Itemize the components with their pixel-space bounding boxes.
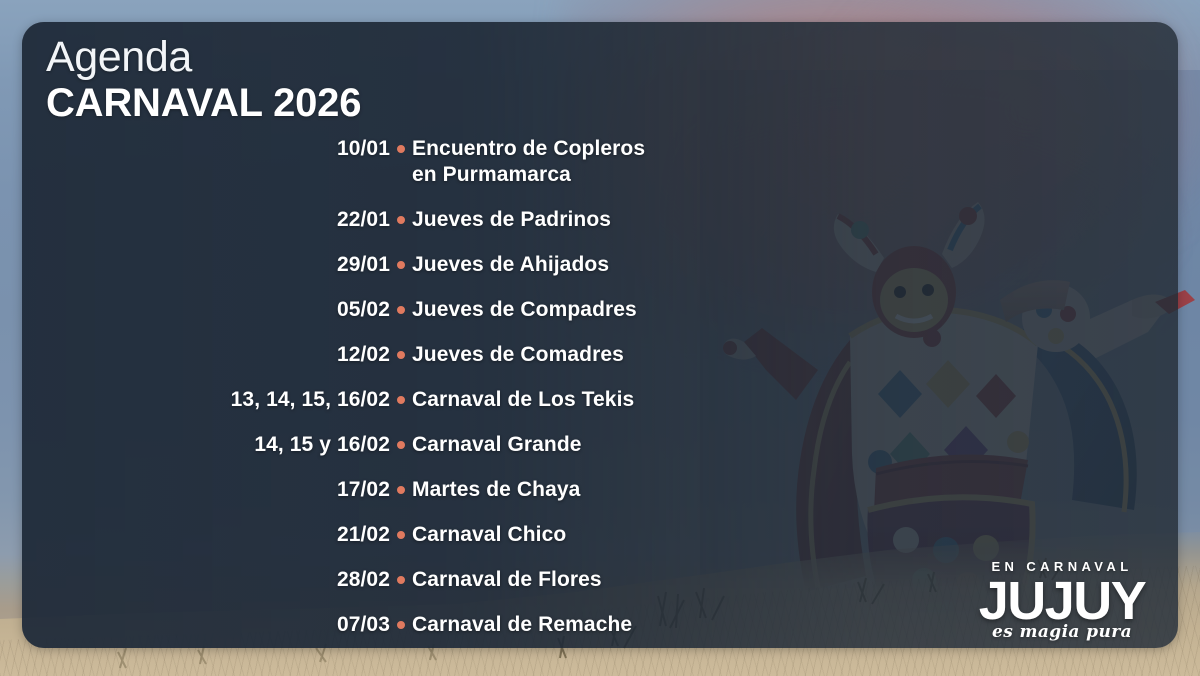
agenda-item: 13, 14, 15, 16/02 Carnaval de Los Tekis xyxy=(46,387,746,413)
agenda-item-event: Carnaval de Remache xyxy=(412,612,746,638)
bullet-dot-icon xyxy=(390,207,412,224)
bullet-dot-icon xyxy=(390,342,412,359)
agenda-item-event: Jueves de Comadres xyxy=(412,342,746,368)
agenda-item-event: Encuentro de Copleros en Purmamarca xyxy=(412,136,746,188)
bullet-dot-icon xyxy=(390,612,412,629)
agenda-item-date: 28/02 xyxy=(46,567,390,593)
agenda-item-event: Jueves de Ahijados xyxy=(412,252,746,278)
agenda-item-date: 22/01 xyxy=(46,207,390,233)
agenda-item: 07/03 Carnaval de Remache xyxy=(46,612,746,638)
agenda-item-date: 21/02 xyxy=(46,522,390,548)
bullet-dot-icon xyxy=(390,297,412,314)
bullet-dot-icon xyxy=(390,387,412,404)
page-title: CARNAVAL 2026 xyxy=(46,80,361,127)
logo-tagline: es magia pura xyxy=(992,622,1132,642)
logo-wordmark: JUJUY xyxy=(962,576,1162,628)
poster: Agenda CARNAVAL 2026 10/01 Encuentro de … xyxy=(0,0,1200,676)
agenda-item-date: 14, 15 y 16/02 xyxy=(46,432,390,458)
agenda-item: 05/02 Jueves de Compadres xyxy=(46,297,746,323)
agenda-item: 21/02 Carnaval Chico xyxy=(46,522,746,548)
agenda-item-date: 17/02 xyxy=(46,477,390,503)
agenda-item-event: Carnaval de Los Tekis xyxy=(412,387,746,413)
agenda-item: 29/01 Jueves de Ahijados xyxy=(46,252,746,278)
jujuy-brand-logo: EN CARNAVAL JUJUY es magia pura xyxy=(962,559,1162,644)
agenda-item-event: Carnaval Chico xyxy=(412,522,746,548)
page-header: Agenda CARNAVAL 2026 xyxy=(46,36,361,127)
agenda-list: 10/01 Encuentro de Copleros en Purmamarc… xyxy=(46,136,746,638)
agenda-item-event: Jueves de Padrinos xyxy=(412,207,746,233)
agenda-item-event: Carnaval de Flores xyxy=(412,567,746,593)
agenda-item-event: Jueves de Compadres xyxy=(412,297,746,323)
agenda-item: 22/01 Jueves de Padrinos xyxy=(46,207,746,233)
agenda-item-date: 07/03 xyxy=(46,612,390,638)
agenda-item-date: 29/01 xyxy=(46,252,390,278)
agenda-item-date: 13, 14, 15, 16/02 xyxy=(46,387,390,413)
agenda-item: 28/02 Carnaval de Flores xyxy=(46,567,746,593)
agenda-item-event: Carnaval Grande xyxy=(412,432,746,458)
bullet-dot-icon xyxy=(390,522,412,539)
agenda-item-date: 10/01 xyxy=(46,136,390,162)
logo-tagline-wrap: es magia pura xyxy=(962,622,1162,644)
agenda-item-date: 05/02 xyxy=(46,297,390,323)
agenda-item: 17/02 Martes de Chaya xyxy=(46,477,746,503)
agenda-item: 14, 15 y 16/02 Carnaval Grande xyxy=(46,432,746,458)
agenda-item: 12/02 Jueves de Comadres xyxy=(46,342,746,368)
bullet-dot-icon xyxy=(390,136,412,153)
agenda-item-event: Martes de Chaya xyxy=(412,477,746,503)
bullet-dot-icon xyxy=(390,252,412,269)
header-eyebrow: Agenda xyxy=(46,36,361,80)
agenda-item-date: 12/02 xyxy=(46,342,390,368)
agenda-item: 10/01 Encuentro de Copleros en Purmamarc… xyxy=(46,136,746,188)
bullet-dot-icon xyxy=(390,477,412,494)
bullet-dot-icon xyxy=(390,432,412,449)
bullet-dot-icon xyxy=(390,567,412,584)
